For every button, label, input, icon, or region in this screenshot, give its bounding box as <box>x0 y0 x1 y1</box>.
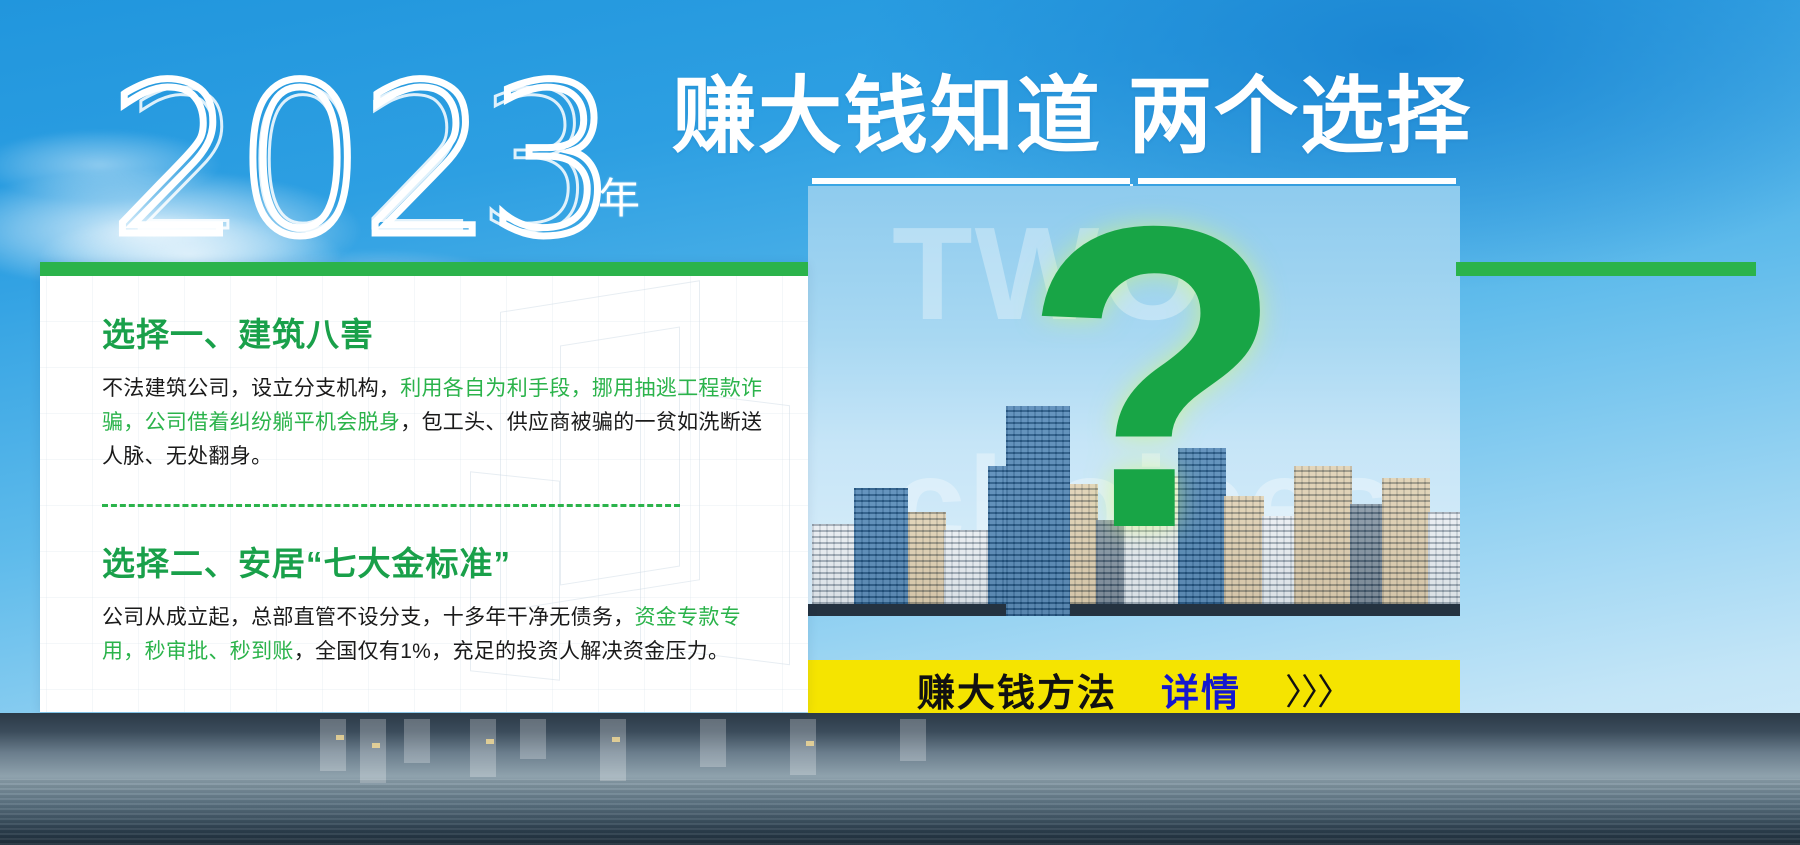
section-2-text-c: ，全国仅有1%，充足的投资人解决资金压力。 <box>294 640 730 663</box>
headline-rule-right <box>1138 178 1456 184</box>
dashed-divider <box>102 504 680 507</box>
city-skyline <box>808 426 1460 616</box>
section-1-body: 不法建筑公司，设立分支机构，利用各自为利手段，挪用抽逃工程款诈骗，公司借着纠纷躺… <box>102 372 780 474</box>
content-card: 选择一、建筑八害 不法建筑公司，设立分支机构，利用各自为利手段，挪用抽逃工程款诈… <box>40 262 808 712</box>
bottom-waterfront-strip <box>0 713 1800 845</box>
cta-details-link[interactable]: 详情 <box>1161 662 1241 717</box>
city-photo-panel: TWO choices <box>808 186 1460 616</box>
headline-rule-left <box>812 178 1130 184</box>
section-2-body: 公司从成立起，总部直管不设分支，十多年干净无债务，资金专款专用，秒审批、秒到账，… <box>102 601 780 669</box>
cta-main-label: 赚大钱方法 <box>917 662 1117 717</box>
headline-part-2: 两个选择 <box>1128 69 1472 163</box>
page-title: 赚大钱知道两个选择 <box>672 72 1472 161</box>
section-1-title: 选择一、建筑八害 <box>102 308 782 356</box>
green-accent-bar-right <box>1456 262 1756 276</box>
card-green-header-bar <box>40 262 808 276</box>
card-content: 选择一、建筑八害 不法建筑公司，设立分支机构，利用各自为利手段，挪用抽逃工程款诈… <box>102 308 782 669</box>
year-suffix-label: 年 <box>598 165 640 226</box>
chevron-right-icon: 〉〉〉 <box>1285 663 1351 715</box>
section-1-text-a: 不法建筑公司，设立分支机构， <box>102 377 400 400</box>
watermark-line-1: TWO <box>892 200 1206 347</box>
headline-part-1: 赚大钱知道 <box>672 69 1102 163</box>
section-2-title: 选择二、安居“七大金标准” <box>102 537 782 585</box>
cta-banner[interactable]: 赚大钱方法 详情 〉〉〉 <box>808 660 1460 718</box>
section-2-text-a: 公司从成立起，总部直管不设分支，十多年干净无债务， <box>102 606 635 629</box>
poster-root: 2023 2023 年 赚大钱知道两个选择 TWO choices <box>0 0 1800 845</box>
